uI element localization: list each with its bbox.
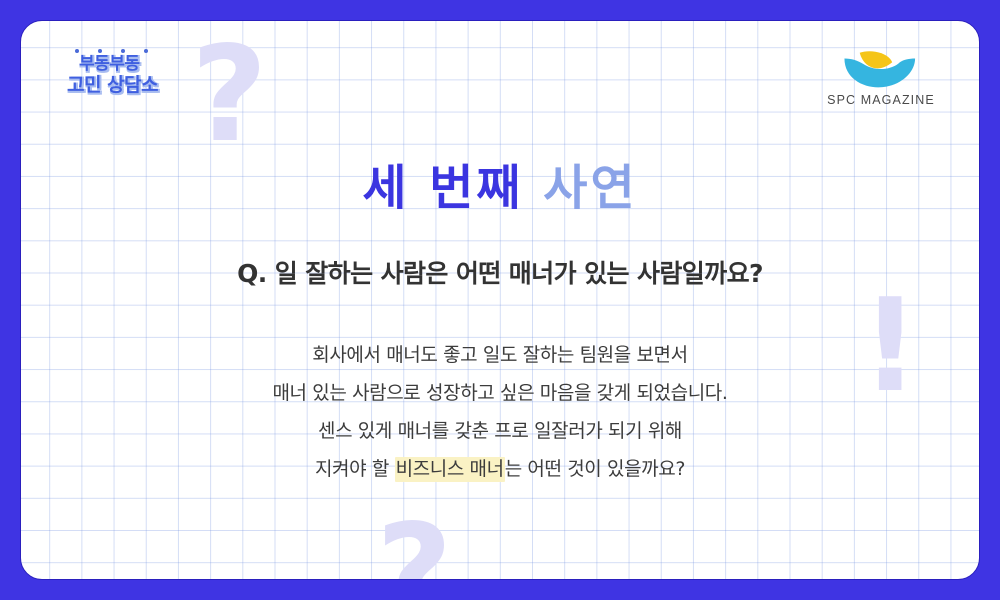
highlighted-term: 비즈니스 매너 <box>395 457 505 482</box>
body-line-4-post: 는 어떤 것이 있을까요? <box>505 458 685 480</box>
headline-main: 세 번째 <box>362 160 523 216</box>
brand-logo: SPC MAGAZINE <box>821 47 941 107</box>
question-mark-icon: ? <box>376 507 453 580</box>
badge-line-2: 고민 상담소 <box>63 74 203 96</box>
brand-name: SPC MAGAZINE <box>821 93 941 107</box>
story-body: 회사에서 매너도 좋고 일도 잘하는 팀원을 보면서 매너 있는 사람으로 성장… <box>21 336 979 488</box>
body-line-4: 지켜야 할 비즈니스 매너는 어떤 것이 있을까요? <box>21 450 979 488</box>
body-line-4-pre: 지켜야 할 <box>315 458 395 480</box>
headline-sub: 사연 <box>543 160 637 216</box>
series-badge: 부동부동 고민 상담소 <box>63 49 203 96</box>
card-panel: ? ? ! 부동부동 고민 상담소 SPC MAGAZINE 세 번째 사연 Q… <box>20 20 980 580</box>
body-line-3: 센스 있게 매너를 갖춘 프로 일잘러가 되기 위해 <box>21 412 979 450</box>
body-line-2: 매너 있는 사람으로 성장하고 싶은 마음을 갖게 되었습니다. <box>21 374 979 412</box>
bowl-crescent-icon <box>833 47 928 89</box>
badge-line-1: 부동부동 <box>63 55 203 74</box>
story-card: ? ? ! 부동부동 고민 상담소 SPC MAGAZINE 세 번째 사연 Q… <box>0 0 1000 600</box>
body-line-1: 회사에서 매너도 좋고 일도 잘하는 팀원을 보면서 <box>21 336 979 374</box>
page-title: 세 번째 사연 <box>21 159 979 217</box>
badge-dots-icon <box>63 49 203 53</box>
question-heading: Q. 일 잘하는 사람은 어떤 매너가 있는 사람일까요? <box>21 257 979 291</box>
